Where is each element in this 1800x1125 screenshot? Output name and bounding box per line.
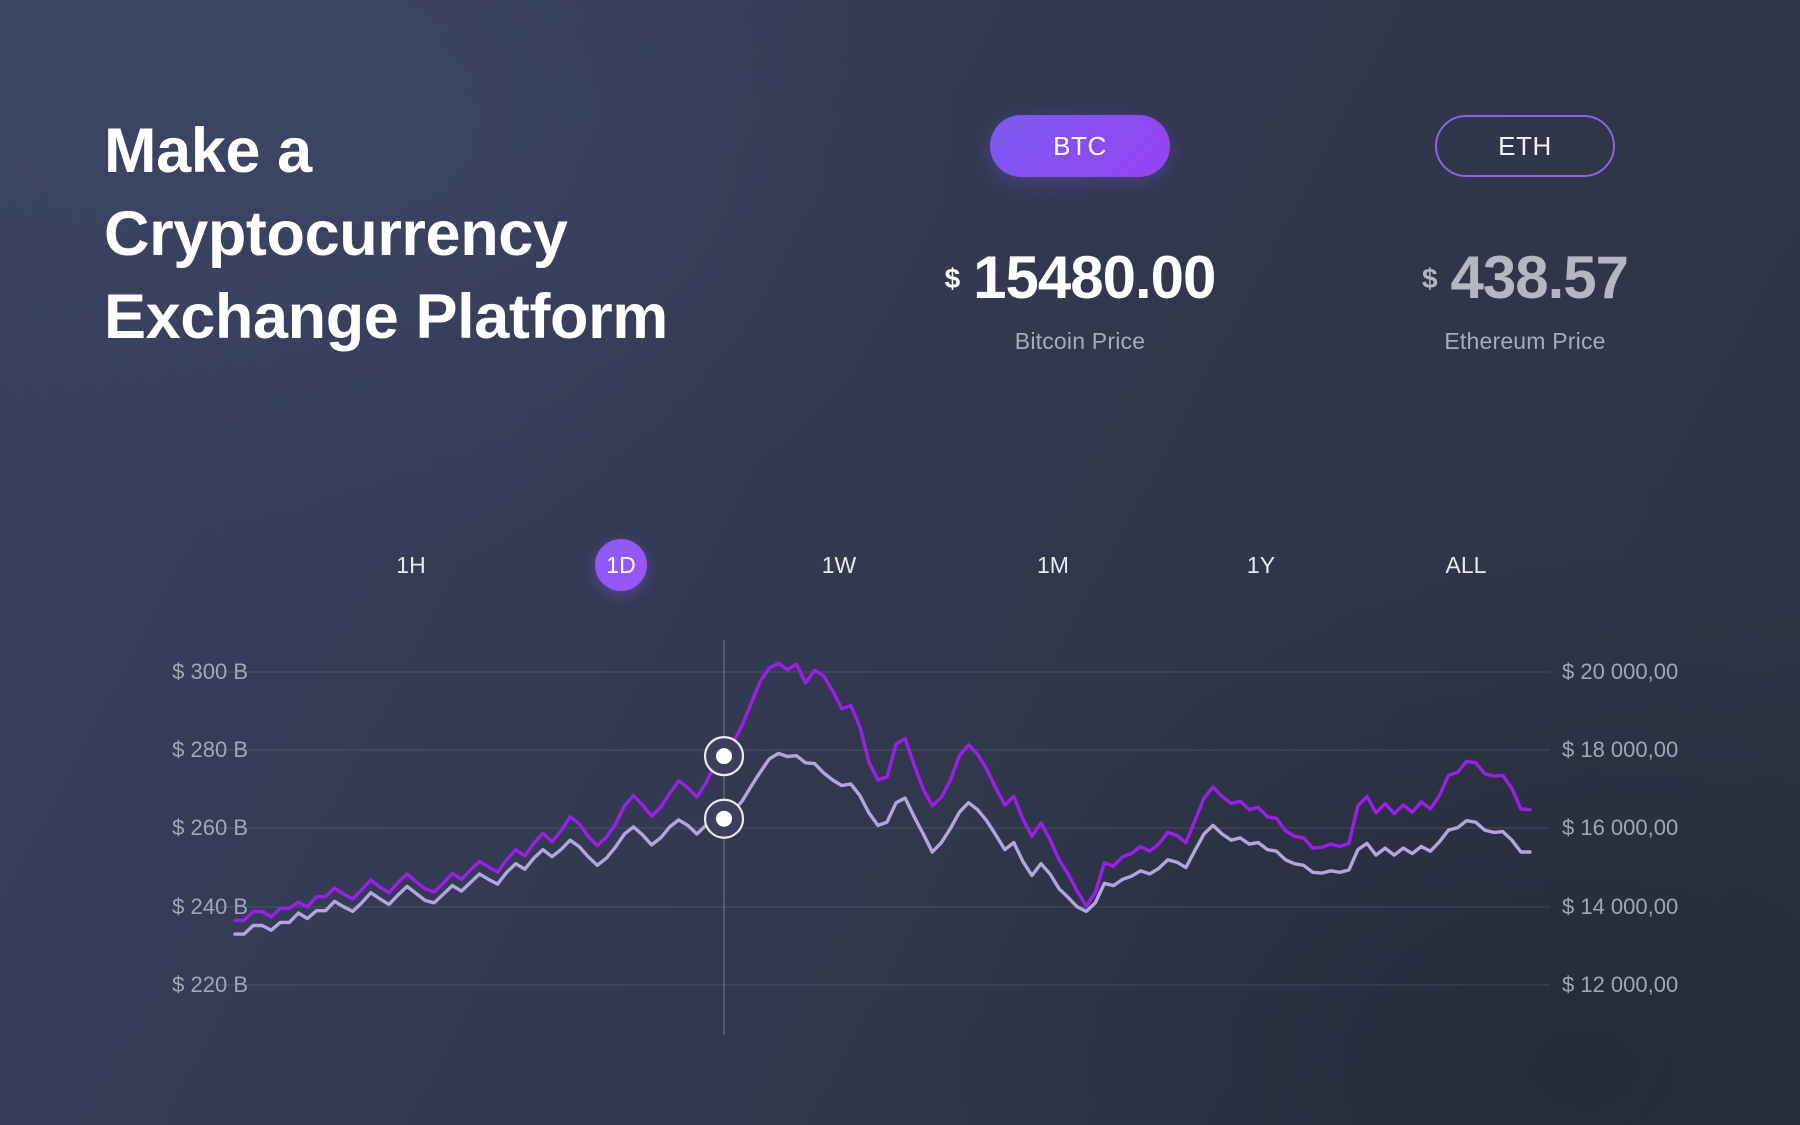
eth-currency-symbol: $ <box>1422 263 1438 295</box>
time-range-selector: 1H1D1W1M1YALL <box>235 535 1655 595</box>
eth-toggle-button[interactable]: ETH <box>1435 115 1615 177</box>
page-title-line-1: Make a <box>104 110 924 193</box>
chart-canvas <box>0 630 1800 1050</box>
chart-line-btc <box>235 663 1530 920</box>
btc-toggle-button[interactable]: BTC <box>990 115 1170 177</box>
range-tab-label: 1W <box>813 539 865 591</box>
price-chart[interactable] <box>0 630 1800 1050</box>
range-tab-1m[interactable]: 1M <box>1027 535 1079 595</box>
btc-price-label: Bitcoin Price <box>930 328 1230 355</box>
page-title-line-2: Cryptocurrency <box>104 193 924 276</box>
range-tab-1w[interactable]: 1W <box>813 535 865 595</box>
btc-ticker-column: BTC $ 15480.00 Bitcoin Price <box>930 115 1230 355</box>
range-tab-label: 1M <box>1027 539 1079 591</box>
range-tab-1d[interactable]: 1D <box>595 535 647 595</box>
page-title: Make a Cryptocurrency Exchange Platform <box>104 110 924 359</box>
right-axis-tick: $ 12 000,00 <box>1562 972 1678 998</box>
chart-marker-btc[interactable] <box>705 737 743 775</box>
left-axis-tick: $ 220 B <box>172 972 248 998</box>
btc-currency-symbol: $ <box>945 263 961 295</box>
ticker-panel: BTC $ 15480.00 Bitcoin Price ETH $ 438.5… <box>930 115 1690 405</box>
left-axis-tick: $ 300 B <box>172 659 248 685</box>
left-axis-tick: $ 260 B <box>172 815 248 841</box>
marker-dot <box>716 748 732 764</box>
marker-dot <box>716 811 732 827</box>
btc-price-row: $ 15480.00 <box>930 243 1230 312</box>
right-axis-tick: $ 18 000,00 <box>1562 737 1678 763</box>
right-axis-tick: $ 16 000,00 <box>1562 815 1678 841</box>
range-tab-1h[interactable]: 1H <box>385 535 437 595</box>
eth-ticker-column: ETH $ 438.57 Ethereum Price <box>1360 115 1690 355</box>
right-axis-tick: $ 20 000,00 <box>1562 659 1678 685</box>
btc-price-value: 15480.00 <box>973 243 1215 312</box>
range-tab-label: 1Y <box>1235 539 1287 591</box>
range-tab-all[interactable]: ALL <box>1440 535 1492 595</box>
left-axis-tick: $ 280 B <box>172 737 248 763</box>
range-tab-label: ALL <box>1440 539 1492 591</box>
eth-price-value: 438.57 <box>1451 243 1629 312</box>
eth-price-row: $ 438.57 <box>1360 243 1690 312</box>
range-tab-1y[interactable]: 1Y <box>1235 535 1287 595</box>
page-title-line-3: Exchange Platform <box>104 276 924 359</box>
left-axis-tick: $ 240 B <box>172 894 248 920</box>
range-tab-label: 1H <box>385 539 437 591</box>
right-axis-tick: $ 14 000,00 <box>1562 894 1678 920</box>
eth-price-label: Ethereum Price <box>1360 328 1690 355</box>
range-tab-label: 1D <box>595 539 647 591</box>
chart-marker-eth[interactable] <box>705 800 743 838</box>
